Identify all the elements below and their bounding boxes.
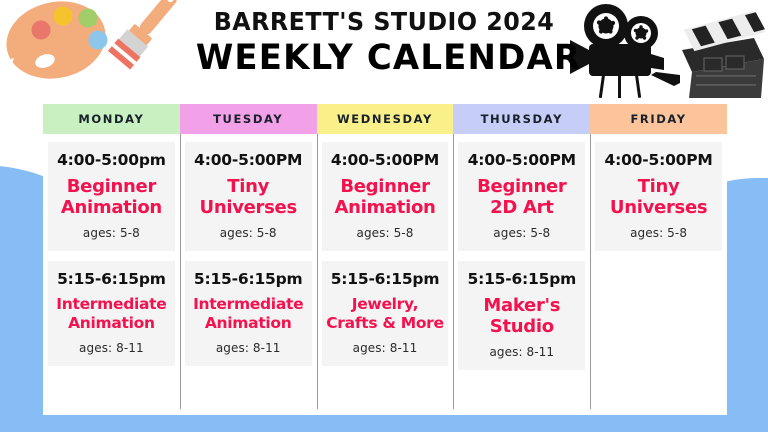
class-ages: ages: 5-8 xyxy=(599,226,718,240)
class-ages: ages: 5-8 xyxy=(462,226,581,240)
class-time: 4:00-5:00PM xyxy=(189,151,308,170)
class-time: 5:15-6:15pm xyxy=(189,270,308,289)
class-name: Jewelry, Crafts & More xyxy=(326,295,445,333)
movie-camera-and-clapperboard-icon xyxy=(556,2,768,98)
day-body-thursday: 4:00-5:00PM Beginner 2D Art ages: 5-8 5:… xyxy=(453,134,590,409)
class-card-empty-slot xyxy=(595,261,722,365)
day-header-monday: MONDAY xyxy=(43,104,180,134)
day-header-friday: FRIDAY xyxy=(590,104,727,134)
day-column-monday: MONDAY 4:00-5:00pm Beginner Animation ag… xyxy=(43,104,180,409)
weekly-calendar-poster: BARRETT'S STUDIO 2024 WEEKLY CALENDAR MO… xyxy=(0,0,768,432)
class-time: 4:00-5:00PM xyxy=(599,151,718,170)
day-body-tuesday: 4:00-5:00PM Tiny Universes ages: 5-8 5:1… xyxy=(180,134,317,409)
class-time: 4:00-5:00pm xyxy=(52,151,171,170)
class-name: Beginner Animation xyxy=(326,176,445,218)
day-header-tuesday: TUESDAY xyxy=(180,104,317,134)
day-column-tuesday: TUESDAY 4:00-5:00PM Tiny Universes ages:… xyxy=(180,104,317,409)
day-body-monday: 4:00-5:00pm Beginner Animation ages: 5-8… xyxy=(43,134,180,409)
day-body-friday: 4:00-5:00PM Tiny Universes ages: 5-8 xyxy=(590,134,727,409)
class-name: Tiny Universes xyxy=(599,176,718,218)
class-card[interactable]: 5:15-6:15pm Jewelry, Crafts & More ages:… xyxy=(322,261,449,366)
class-name: Beginner 2D Art xyxy=(462,176,581,218)
class-ages: ages: 5-8 xyxy=(326,226,445,240)
class-card[interactable]: 5:15-6:15pm Intermediate Animation ages:… xyxy=(48,261,175,366)
class-ages: ages: 8-11 xyxy=(189,341,308,355)
class-card[interactable]: 4:00-5:00PM Tiny Universes ages: 5-8 xyxy=(185,142,312,251)
class-card[interactable]: 5:15-6:15pm Intermediate Animation ages:… xyxy=(185,261,312,366)
class-ages: ages: 8-11 xyxy=(52,341,171,355)
class-card[interactable]: 4:00-5:00pm Beginner Animation ages: 5-8 xyxy=(48,142,175,251)
class-card[interactable]: 5:15-6:15pm Maker's Studio ages: 8-11 xyxy=(458,261,585,370)
class-name: Intermediate Animation xyxy=(189,295,308,333)
poster-title: BARRETT'S STUDIO 2024 WEEKLY CALENDAR xyxy=(190,6,578,78)
day-column-thursday: THURSDAY 4:00-5:00PM Beginner 2D Art age… xyxy=(453,104,590,409)
class-ages: ages: 8-11 xyxy=(326,341,445,355)
class-name: Tiny Universes xyxy=(189,176,308,218)
day-column-wednesday: WEDNESDAY 4:00-5:00PM Beginner Animation… xyxy=(317,104,454,409)
poster-title-line-1: BARRETT'S STUDIO 2024 xyxy=(200,6,569,38)
class-time: 5:15-6:15pm xyxy=(52,270,171,289)
calendar-grid: MONDAY 4:00-5:00pm Beginner Animation ag… xyxy=(43,104,727,409)
class-ages: ages: 5-8 xyxy=(52,226,171,240)
class-ages: ages: 8-11 xyxy=(462,345,581,359)
day-column-friday: FRIDAY 4:00-5:00PM Tiny Universes ages: … xyxy=(590,104,727,409)
class-name: Maker's Studio xyxy=(462,295,581,337)
blue-decorative-band-bottom xyxy=(0,414,768,432)
class-card[interactable]: 4:00-5:00PM Beginner 2D Art ages: 5-8 xyxy=(458,142,585,251)
poster-title-line-2: WEEKLY CALENDAR xyxy=(196,38,572,78)
class-time: 5:15-6:15pm xyxy=(326,270,445,289)
class-name: Intermediate Animation xyxy=(52,295,171,333)
day-header-wednesday: WEDNESDAY xyxy=(317,104,454,134)
class-time: 4:00-5:00PM xyxy=(462,151,581,170)
day-header-thursday: THURSDAY xyxy=(453,104,590,134)
class-time: 5:15-6:15pm xyxy=(462,270,581,289)
day-body-wednesday: 4:00-5:00PM Beginner Animation ages: 5-8… xyxy=(317,134,454,409)
paint-palette-and-brush-icon xyxy=(0,0,180,96)
class-card[interactable]: 4:00-5:00PM Beginner Animation ages: 5-8 xyxy=(322,142,449,251)
class-ages: ages: 5-8 xyxy=(189,226,308,240)
class-name: Beginner Animation xyxy=(52,176,171,218)
class-card[interactable]: 4:00-5:00PM Tiny Universes ages: 5-8 xyxy=(595,142,722,251)
class-time: 4:00-5:00PM xyxy=(326,151,445,170)
